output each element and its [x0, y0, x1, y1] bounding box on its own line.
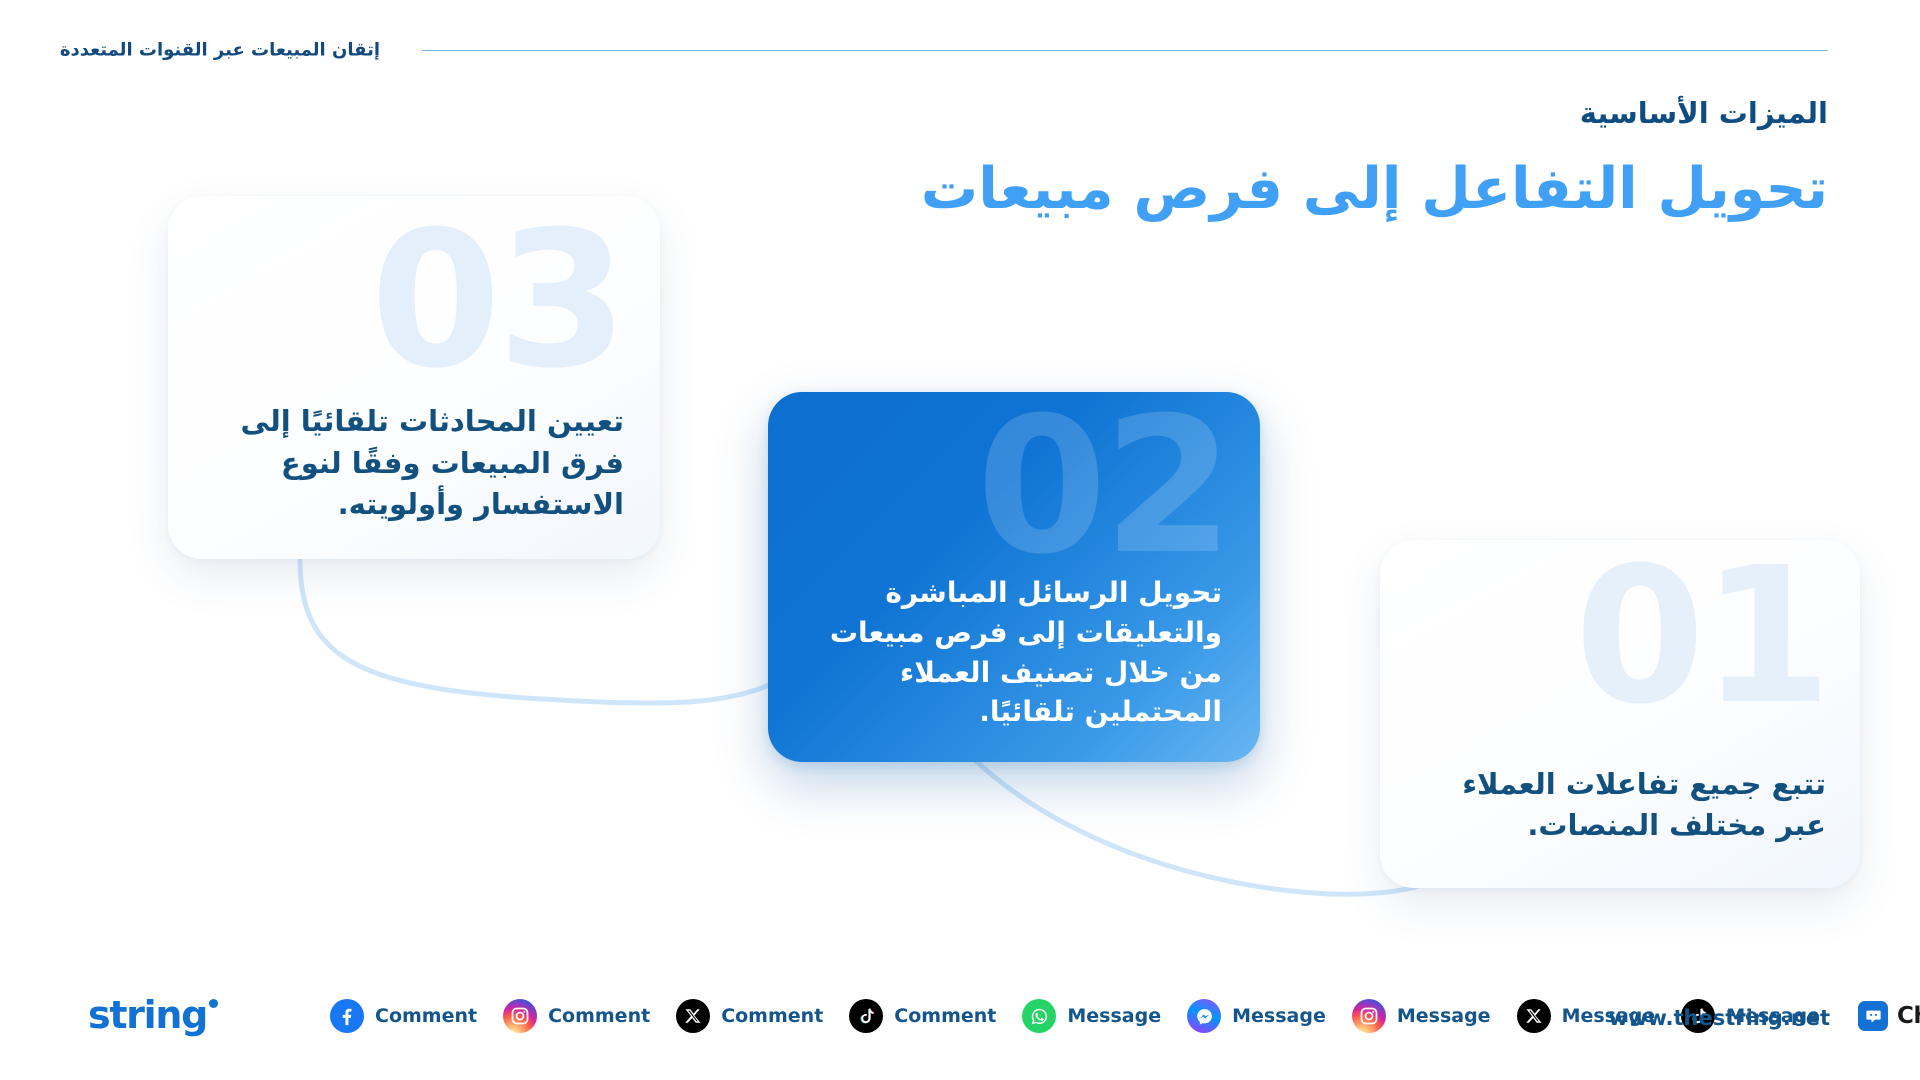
chatbot-label: ChatBot: [1897, 1003, 1920, 1029]
title-block: الميزات الأساسية تحويل التفاعل إلى فرص م…: [788, 96, 1828, 222]
feature-card-03[interactable]: 03 تعيين المحادثات تلقائيًا إلى فرق المب…: [168, 196, 660, 559]
chatbot-badge[interactable]: ChatBot: [1858, 1001, 1920, 1031]
connector-card03-to-card02: [300, 560, 790, 703]
social-item-instagram-message[interactable]: Message: [1352, 999, 1491, 1033]
slide-root: إتقان المبيعات عبر القنوات المتعددة المي…: [0, 0, 1920, 1080]
social-label: Message: [1232, 1005, 1326, 1027]
slide-footer: string Comment Commen: [0, 962, 1920, 1080]
x-icon: [1517, 999, 1551, 1033]
social-label: Comment: [721, 1005, 823, 1027]
page-title: تحويل التفاعل إلى فرص مبيعات: [788, 157, 1828, 223]
card-text-03: تعيين المحادثات تلقائيًا إلى فرق المبيعا…: [168, 401, 660, 559]
social-label: Message: [1397, 1005, 1491, 1027]
social-item-tiktok-comment[interactable]: Comment: [849, 999, 996, 1033]
x-icon: [676, 999, 710, 1033]
card-text-01: تتبع جميع تفاعلات العملاء عبر مختلف المن…: [1380, 764, 1860, 888]
card-number-03: 03: [370, 224, 624, 378]
social-label: Comment: [375, 1005, 477, 1027]
header-kicker: إتقان المبيعات عبر القنوات المتعددة: [60, 40, 380, 61]
brand-logo-dot-icon: [209, 999, 218, 1008]
tiktok-icon: [849, 999, 883, 1033]
instagram-icon: [1352, 999, 1386, 1033]
whatsapp-icon: [1022, 999, 1056, 1033]
brand-logo[interactable]: string: [88, 996, 218, 1034]
social-channels-row: Comment Comment Comment: [330, 990, 1540, 1042]
header-divider: [422, 50, 1828, 51]
social-item-facebook-comment[interactable]: Comment: [330, 999, 477, 1033]
slide-header: إتقان المبيعات عبر القنوات المتعددة: [0, 28, 1920, 72]
card-number-01: 01: [1574, 560, 1828, 714]
website-url[interactable]: www.thestring.net: [1609, 1006, 1830, 1030]
messenger-icon: [1187, 999, 1221, 1033]
social-item-instagram-comment[interactable]: Comment: [503, 999, 650, 1033]
social-label: Comment: [548, 1005, 650, 1027]
brand-logo-text: string: [88, 996, 207, 1034]
social-item-whatsapp-message[interactable]: Message: [1022, 999, 1161, 1033]
social-label: Comment: [894, 1005, 996, 1027]
facebook-icon: [330, 999, 364, 1033]
feature-card-01[interactable]: 01 تتبع جميع تفاعلات العملاء عبر مختلف ا…: [1380, 540, 1860, 888]
feature-card-02[interactable]: 02 تحويل الرسائل المباشرة والتعليقات إلى…: [768, 392, 1260, 762]
instagram-icon: [503, 999, 537, 1033]
chatbot-icon: [1858, 1001, 1888, 1031]
social-label: Message: [1067, 1005, 1161, 1027]
eyebrow-label: الميزات الأساسية: [788, 96, 1828, 131]
social-item-x-comment[interactable]: Comment: [676, 999, 823, 1033]
card-text-02: تحويل الرسائل المباشرة والتعليقات إلى فر…: [768, 573, 1260, 762]
card-number-02: 02: [976, 410, 1230, 564]
social-item-messenger-message[interactable]: Message: [1187, 999, 1326, 1033]
